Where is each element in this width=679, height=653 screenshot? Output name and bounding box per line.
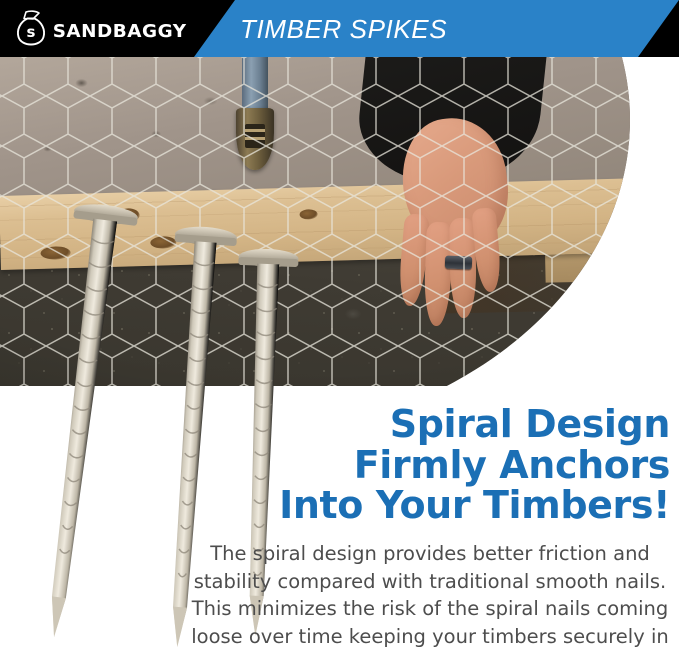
brand-logo-text: sandbaggy — [53, 16, 187, 41]
sandbag-icon: s — [14, 10, 48, 46]
photo-vignette — [0, 56, 679, 386]
headline: Spiral Design Firmly Anchors Into Your T… — [190, 404, 670, 526]
body-copy: The spiral design provides better fricti… — [190, 540, 670, 651]
body-line-1: The spiral design provides better fricti… — [190, 540, 670, 568]
brand-logo: s sandbaggy — [14, 8, 185, 48]
body-line-3: This minimizes the risk of the spiral na… — [190, 595, 670, 623]
body-line-4: loose over time keeping your timbers sec… — [190, 623, 670, 651]
headline-line-2: Firmly Anchors — [190, 445, 670, 486]
photo-canvas — [0, 56, 679, 386]
product-photo — [0, 56, 679, 386]
body-line-2: stability compared with traditional smoo… — [190, 568, 670, 596]
header-banner: s sandbaggy TIMBER SPIKES — [0, 0, 679, 57]
product-marketing-image: s sandbaggy TIMBER SPIKES — [0, 0, 679, 653]
headline-line-3: Into Your Timbers! — [190, 485, 670, 526]
headline-line-1: Spiral Design — [190, 404, 670, 445]
banner-title: TIMBER SPIKES — [240, 14, 447, 45]
svg-text:s: s — [27, 23, 36, 41]
